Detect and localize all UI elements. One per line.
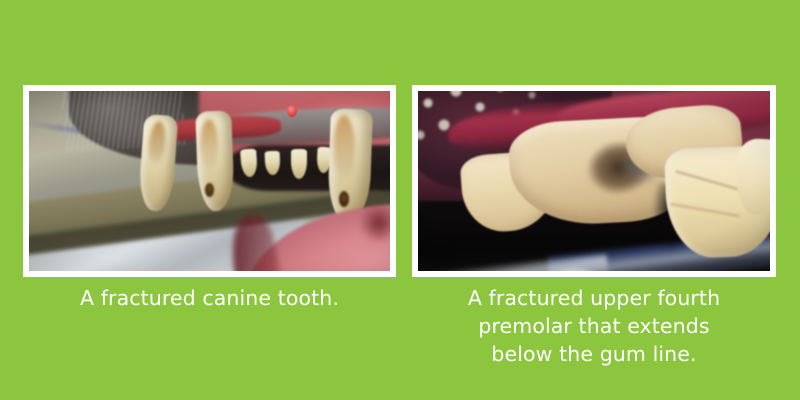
photo-vignette xyxy=(29,91,390,271)
caption-right: A fractured upper fourth premolar that e… xyxy=(408,284,780,368)
photo-vignette xyxy=(418,91,770,271)
figure-card-left xyxy=(23,85,396,277)
slide-canvas: A fractured canine tooth. A fractured xyxy=(0,0,800,400)
photo-fractured-canine-tooth xyxy=(29,91,390,271)
photo-fractured-upper-fourth-premolar xyxy=(418,91,770,271)
caption-left: A fractured canine tooth. xyxy=(23,284,396,312)
figure-card-right xyxy=(412,85,776,277)
